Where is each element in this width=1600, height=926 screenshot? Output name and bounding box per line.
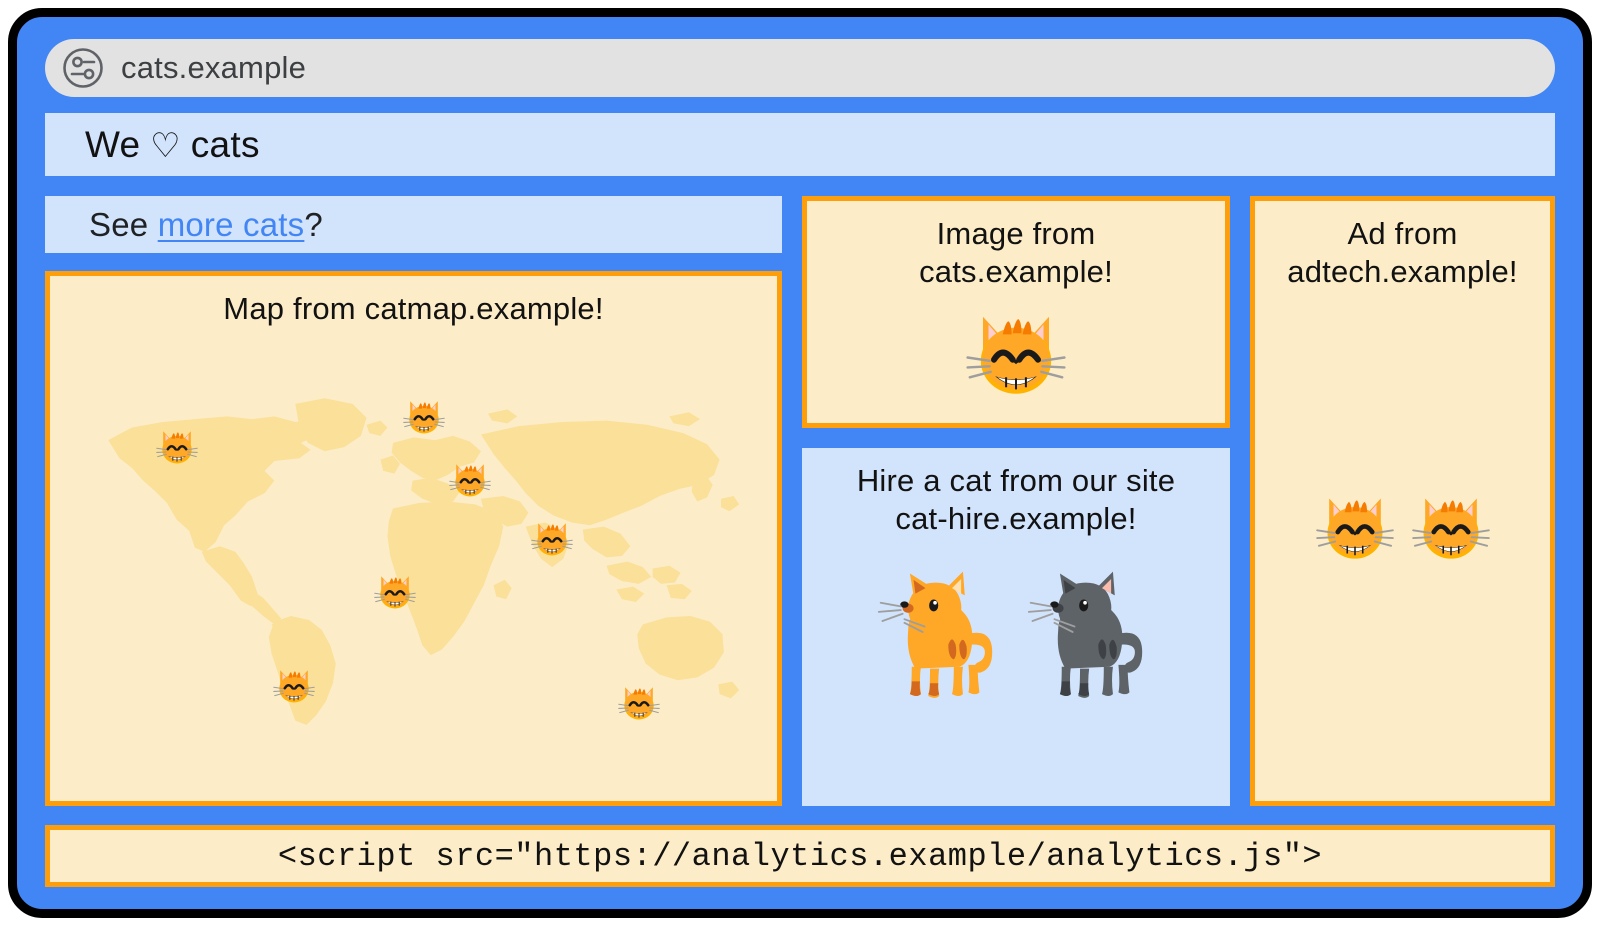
image-panel-title: Image from cats.example! — [807, 201, 1225, 291]
browser-viewport: cats.example We ♡ cats See more cats? Ma… — [17, 17, 1583, 909]
grinning-cat-face-icon — [154, 423, 200, 469]
ad-panel-title-line1: Ad from — [1255, 215, 1550, 253]
left-column: See more cats? Map from catmap.example! — [45, 196, 782, 806]
image-embed-panel[interactable]: Image from cats.example! — [802, 196, 1230, 428]
analytics-script-bar: <script src="https://analytics.example/a… — [45, 825, 1555, 887]
url-bar[interactable]: cats.example — [45, 39, 1555, 97]
ad-panel-graphic — [1255, 483, 1550, 569]
heart-outline-icon: ♡ — [140, 127, 190, 165]
hire-panel-title-line1: Hire a cat from our site — [802, 462, 1230, 500]
link-prefix: See — [89, 206, 158, 243]
map-marker-central-europe[interactable] — [447, 456, 493, 502]
grinning-cat-face-icon — [401, 393, 447, 439]
map-marker-south-asia[interactable] — [529, 515, 575, 561]
grinning-cat-face-icon — [616, 679, 662, 725]
map-canvas[interactable] — [50, 328, 777, 801]
grinning-cat-face-icon — [447, 456, 493, 502]
map-marker-west-africa[interactable] — [372, 568, 418, 614]
headline-before: We — [85, 124, 140, 165]
map-marker-australia[interactable] — [616, 679, 662, 725]
map-marker-south-america[interactable] — [271, 662, 317, 708]
right-column: Ad from adtech.example! — [1250, 196, 1555, 806]
image-panel-title-line1: Image from — [807, 215, 1225, 253]
grinning-cat-face-icon — [1312, 483, 1398, 569]
hire-a-cat-panel[interactable]: Hire a cat from our site cat-hire.exampl… — [802, 448, 1230, 806]
page-title: We ♡ cats — [85, 124, 260, 166]
grinning-cat-face-icon — [529, 515, 575, 561]
script-tag-code: <script src="https://analytics.example/a… — [278, 838, 1322, 875]
ad-embed-panel[interactable]: Ad from adtech.example! — [1250, 196, 1555, 806]
link-sentence: See more cats? — [89, 206, 323, 244]
grinning-cat-face-icon — [372, 568, 418, 614]
cat-body-gray-icon — [1027, 568, 1155, 705]
grinning-cat-face-icon — [961, 297, 1071, 407]
headline-after: cats — [191, 124, 260, 165]
map-panel-title: Map from catmap.example! — [50, 276, 777, 328]
image-panel-graphic — [807, 297, 1225, 407]
see-more-cats-bar: See more cats? — [45, 196, 782, 253]
browser-window: cats.example We ♡ cats See more cats? Ma… — [8, 8, 1592, 918]
hire-panel-graphic — [802, 568, 1230, 705]
link-suffix: ? — [304, 206, 323, 243]
url-text[interactable]: cats.example — [121, 50, 306, 86]
map-marker-north-america[interactable] — [154, 423, 200, 469]
map-marker-northern-europe[interactable] — [401, 393, 447, 439]
map-embed-panel[interactable]: Map from catmap.example! — [45, 271, 782, 806]
tune-icon[interactable] — [61, 46, 105, 90]
image-panel-title-line2: cats.example! — [807, 253, 1225, 291]
hire-panel-title-line2: cat-hire.example! — [802, 500, 1230, 538]
grinning-cat-face-icon — [1408, 483, 1494, 569]
grinning-cat-face-icon — [271, 662, 317, 708]
site-headline-bar: We ♡ cats — [45, 113, 1555, 176]
hire-panel-title: Hire a cat from our site cat-hire.exampl… — [802, 448, 1230, 538]
ad-panel-title: Ad from adtech.example! — [1255, 201, 1550, 291]
cat-body-orange-icon — [877, 568, 1005, 705]
page-content: See more cats? Map from catmap.example! — [45, 196, 1555, 806]
more-cats-link[interactable]: more cats — [158, 206, 305, 243]
ad-panel-title-line2: adtech.example! — [1255, 253, 1550, 291]
middle-column: Image from cats.example! Hire a cat from… — [802, 196, 1230, 806]
